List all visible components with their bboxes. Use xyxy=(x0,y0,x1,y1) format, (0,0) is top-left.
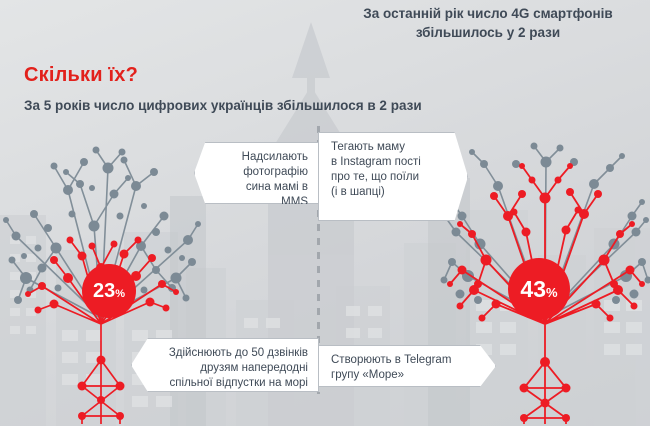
badge-left-value: 23 xyxy=(93,264,115,318)
badge-left-suffix: % xyxy=(115,288,125,300)
callout-top-right: Тегають маму в Instagram пості про те, щ… xyxy=(318,132,468,221)
badge-right-value: 43 xyxy=(520,258,546,320)
badge-right-suffix: % xyxy=(546,285,558,300)
callout-bottom-right: Створюють в Telegram групу «Море» xyxy=(318,345,496,387)
callout-bottom-left: Здійснюють до 50 дзвінків друзям наперед… xyxy=(131,338,319,392)
callout-bottom-right-text: Створюють в Telegram групу «Море» xyxy=(331,354,451,381)
badge-left-percent: 23% xyxy=(82,264,136,318)
callout-top-right-text: Тегають маму в Instagram пості про те, щ… xyxy=(331,141,421,198)
page-subtitle: За 5 років число цифрових українців збіл… xyxy=(24,98,422,113)
page-title: Скільки їх? xyxy=(24,64,138,87)
callout-bottom-left-text: Здійснюють до 50 дзвінків друзям наперед… xyxy=(169,347,308,389)
top-right-note: За останній рік число 4G смартфонів збіл… xyxy=(330,4,646,42)
callout-top-left: Надсилають фотографію сина мамі в MMS xyxy=(194,142,319,204)
badge-right-percent: 43% xyxy=(508,258,570,320)
infographic-canvas: За останній рік число 4G смартфонів збіл… xyxy=(0,0,650,426)
callout-top-left-text: Надсилають фотографію сина мамі в MMS xyxy=(242,151,308,208)
